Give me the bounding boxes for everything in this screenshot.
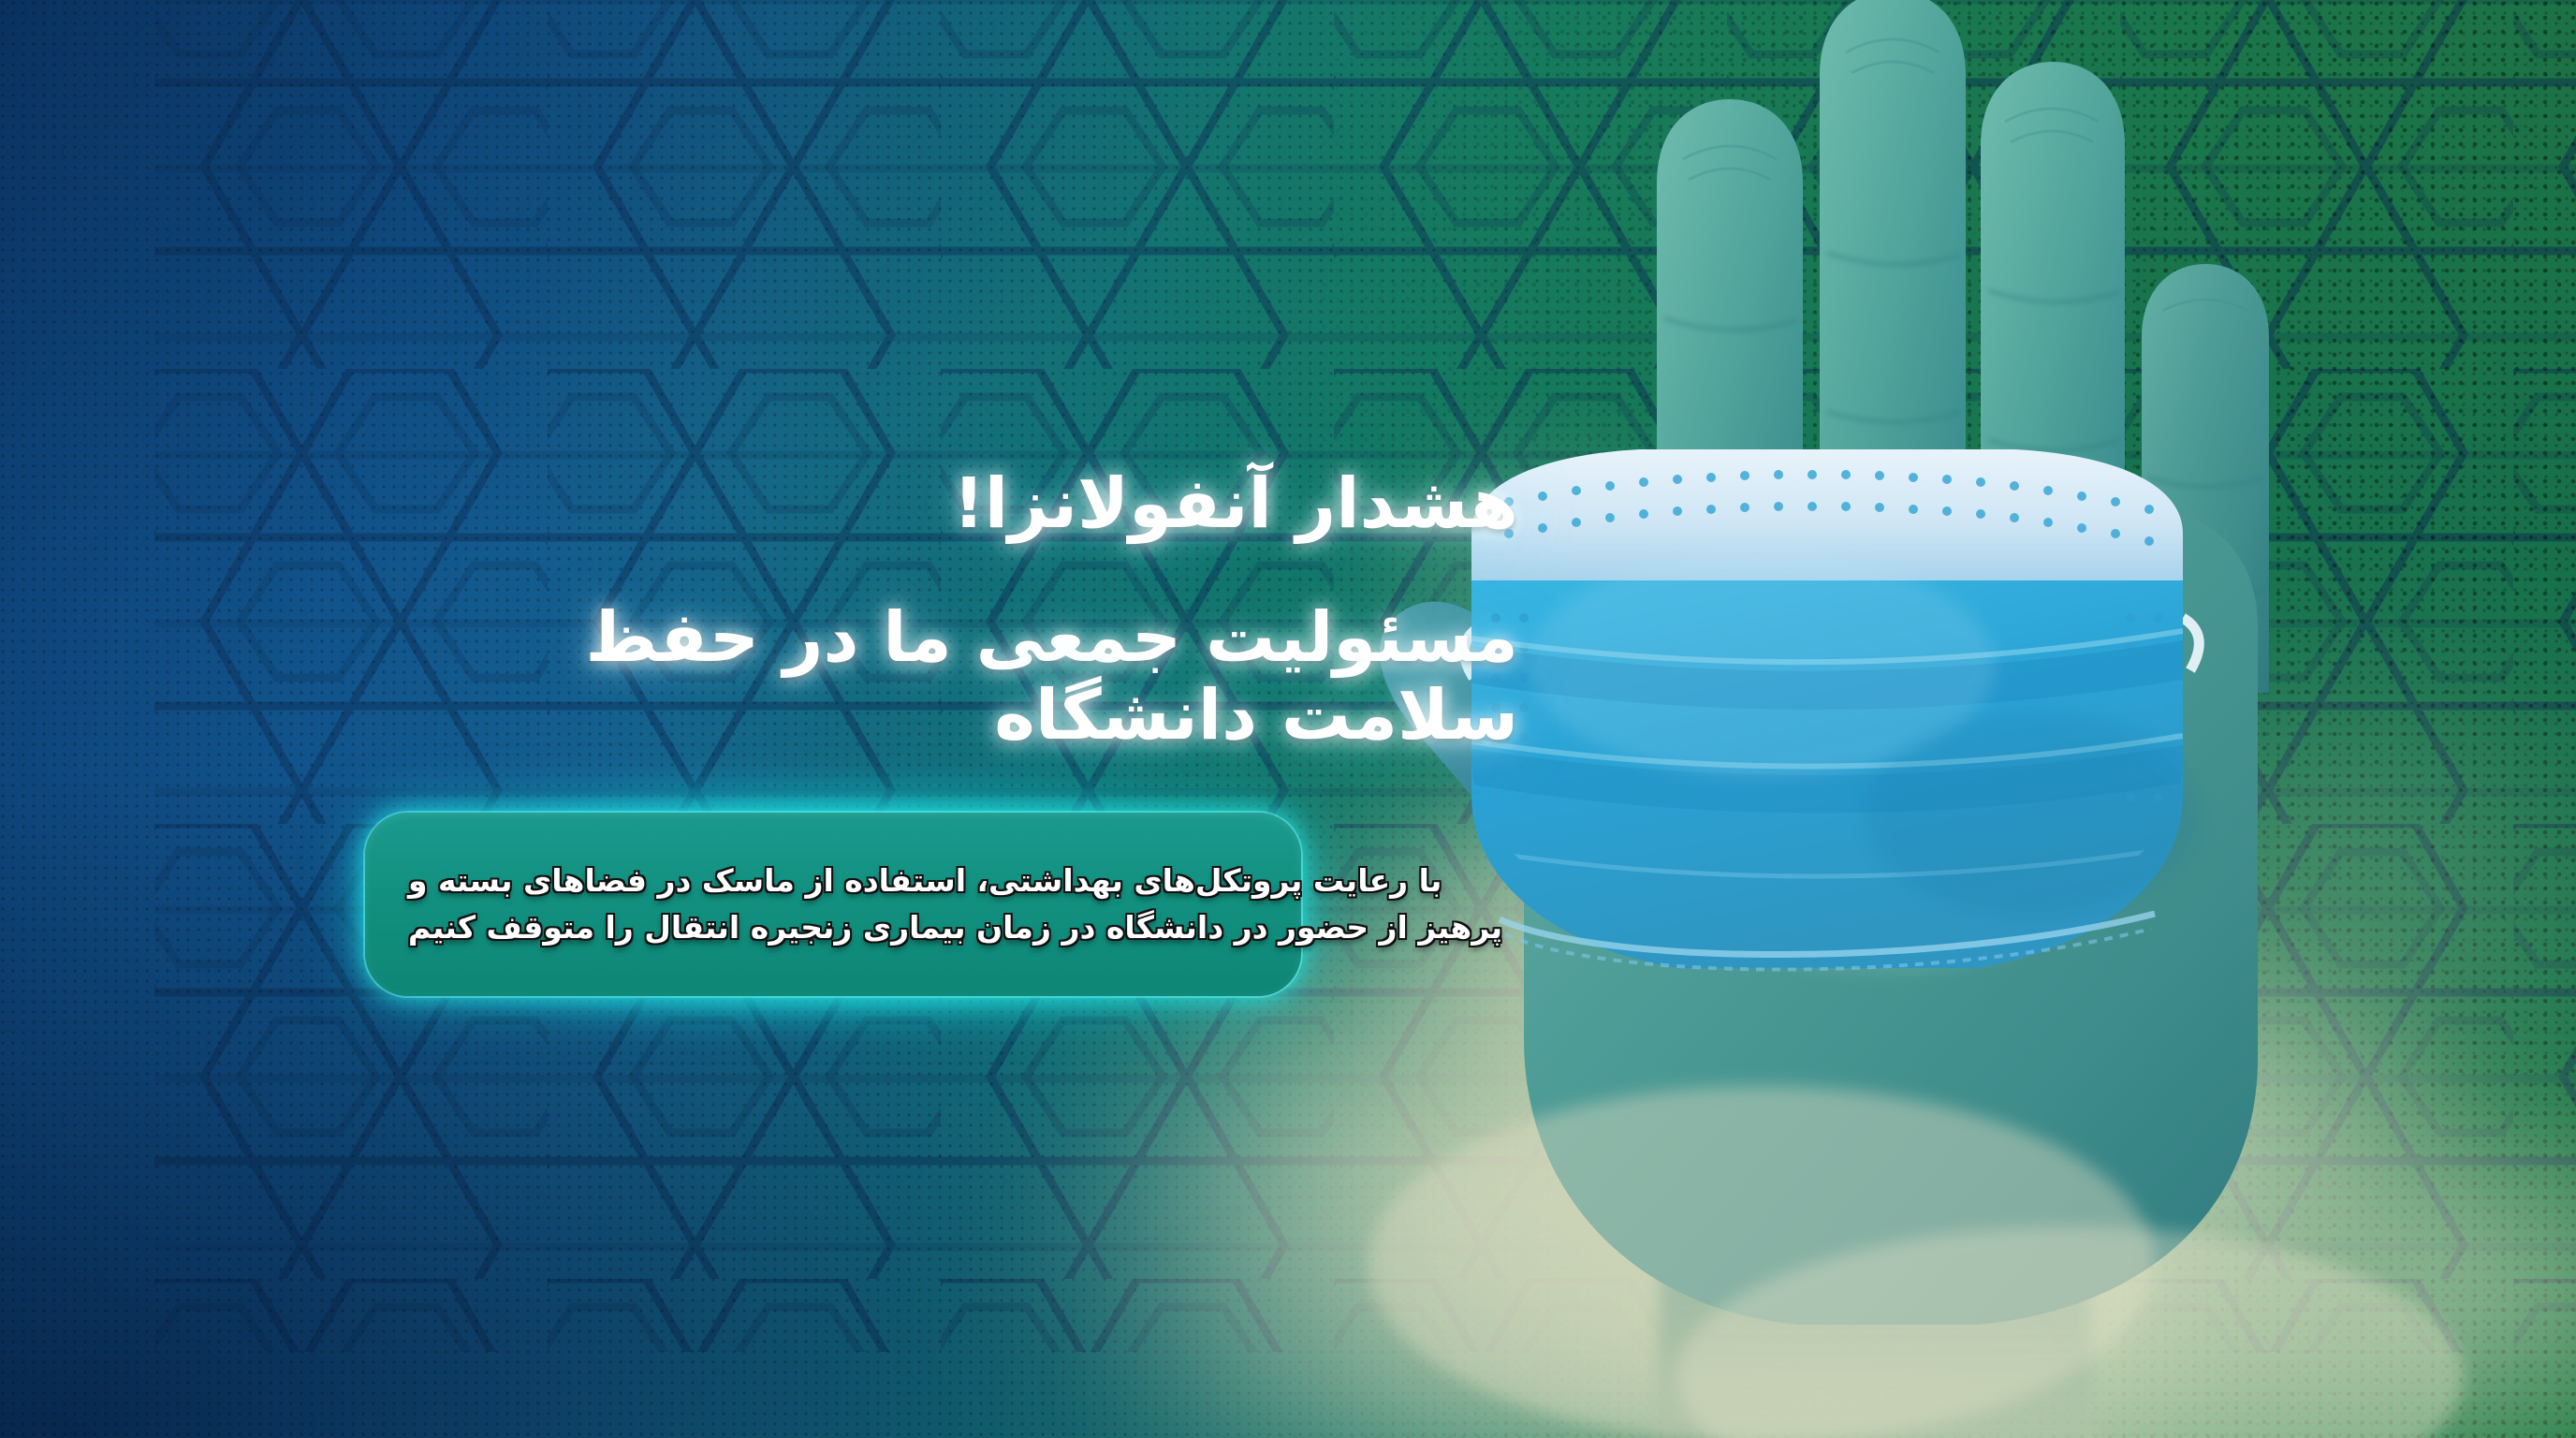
halftone-dot-texture-right-icon — [0, 0, 2576, 1438]
influenza-warning-banner: هشدار آنفولانزا! مسئولیت جمعی ما در حفظ … — [0, 0, 2576, 1438]
